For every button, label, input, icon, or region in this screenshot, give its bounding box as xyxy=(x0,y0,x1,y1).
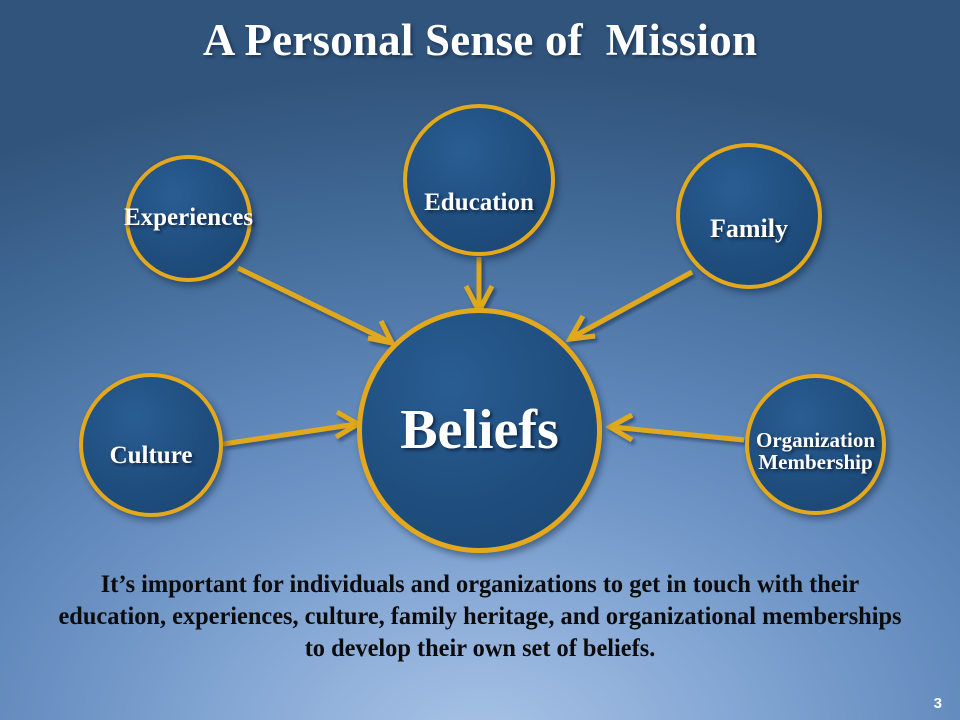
node-organization-membership[interactable]: Organization Membership xyxy=(745,374,886,515)
node-culture[interactable]: Culture xyxy=(79,373,223,517)
node-education-label: Education xyxy=(424,190,534,217)
node-beliefs-label: Beliefs xyxy=(400,401,559,460)
node-experiences-label: Experiences xyxy=(124,205,253,232)
slide-canvas: A Personal Sense of Mission xyxy=(0,0,960,720)
page-number: 3 xyxy=(934,695,942,712)
arrow-organization-to-beliefs xyxy=(610,415,744,440)
arrow-family-to-beliefs xyxy=(570,272,692,339)
node-experiences[interactable]: Experiences xyxy=(125,155,252,282)
node-organization-membership-label: Organization Membership xyxy=(756,429,875,474)
arrow-experiences-to-beliefs xyxy=(238,268,392,343)
node-family[interactable]: Family xyxy=(676,143,822,289)
node-beliefs[interactable]: Beliefs xyxy=(357,308,602,553)
node-education[interactable]: Education xyxy=(403,104,555,256)
node-culture-label: Culture xyxy=(110,443,193,470)
arrow-culture-to-beliefs xyxy=(223,412,358,444)
caption-text: It’s important for individuals and organ… xyxy=(50,568,910,664)
node-family-label: Family xyxy=(710,215,788,243)
arrow-education-to-beliefs xyxy=(466,257,492,311)
